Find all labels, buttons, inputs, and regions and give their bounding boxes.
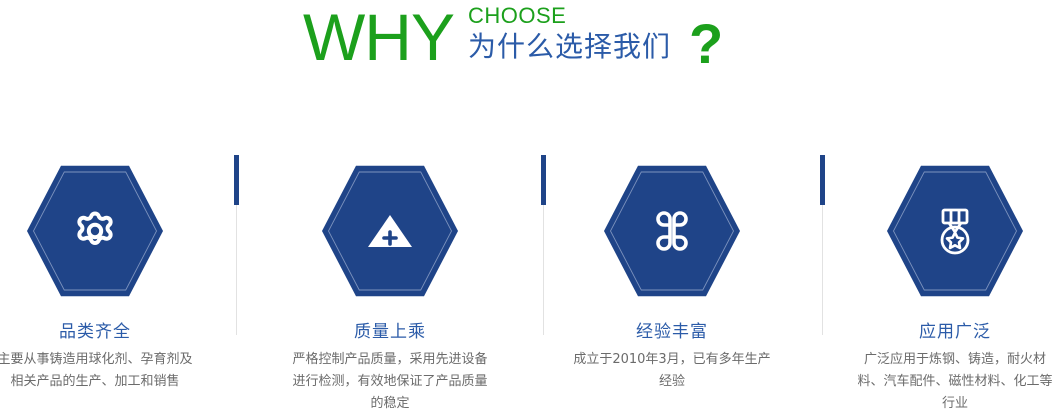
header-chinese-title: 为什么选择我们 [468, 30, 671, 64]
card-description: 主要从事铸造用球化剂、孕育剂及相关产品的生产、加工和销售 [0, 349, 210, 393]
card-title: 经验丰富 [557, 321, 787, 343]
feature-card-2[interactable]: 质量上乘 严格控制产品质量，采用先进设备进行检测，有效地保证了产品质量的稳定 [275, 150, 505, 415]
card-description: 严格控制产品质量，采用先进设备进行检测，有效地保证了产品质量的稳定 [275, 349, 505, 415]
clover-icon [604, 163, 740, 299]
medal-icon [887, 163, 1023, 299]
feature-card-4[interactable]: 应用广泛 广泛应用于炼钢、铸造，耐火材料、汽车配件、磁性材料、化工等行业 [840, 150, 1055, 415]
card-title: 质量上乘 [275, 321, 505, 343]
choose-word: CHOOSE [468, 4, 671, 28]
card-description: 成立于2010年3月，已有多年生产经验 [557, 349, 787, 393]
feature-cards: 品类齐全 主要从事铸造用球化剂、孕育剂及相关产品的生产、加工和销售 质量上乘 严… [0, 150, 1055, 416]
hexagon-badge-2 [322, 163, 458, 299]
triangle-plus-icon [322, 163, 458, 299]
why-word: WHY [303, 2, 454, 72]
gear-icon [27, 163, 163, 299]
header-text-block: CHOOSE 为什么选择我们 [468, 4, 671, 64]
hexagon-badge-4 [887, 163, 1023, 299]
hexagon-badge-1 [27, 163, 163, 299]
feature-card-3[interactable]: 经验丰富 成立于2010年3月，已有多年生产经验 [557, 150, 787, 393]
question-mark: ? [689, 16, 723, 72]
feature-card-1[interactable]: 品类齐全 主要从事铸造用球化剂、孕育剂及相关产品的生产、加工和销售 [0, 150, 210, 393]
hexagon-badge-3 [604, 163, 740, 299]
card-title: 应用广泛 [840, 321, 1055, 343]
header-title-group: WHY CHOOSE 为什么选择我们 ? [303, 0, 723, 72]
card-description: 广泛应用于炼钢、铸造，耐火材料、汽车配件、磁性材料、化工等行业 [840, 349, 1055, 415]
card-title: 品类齐全 [0, 321, 210, 343]
section-header: WHY CHOOSE 为什么选择我们 ? [0, 0, 1055, 95]
